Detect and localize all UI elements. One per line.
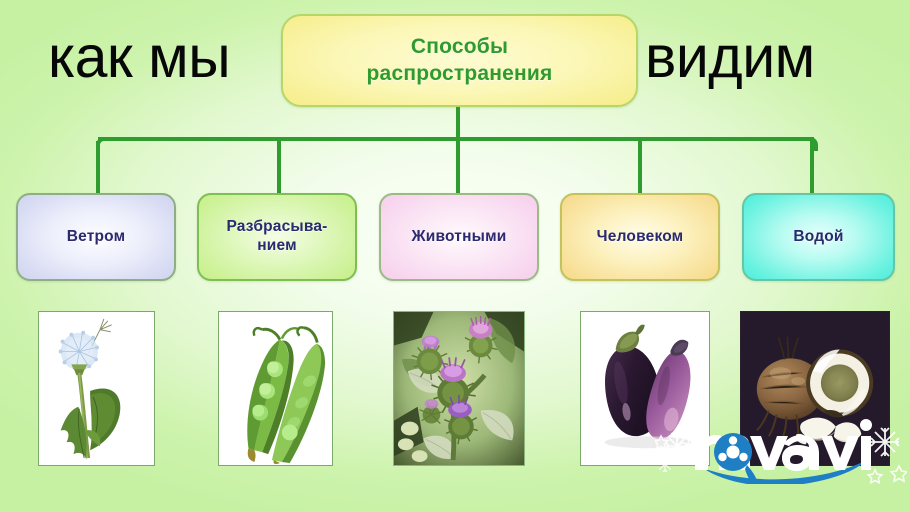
- node-chelovekom-label: Человеком: [591, 228, 690, 247]
- connector-root-stem: [456, 104, 460, 141]
- node-vodoy-label: Водой: [787, 228, 849, 247]
- connector-drop-5: [810, 141, 814, 194]
- node-vodoy[interactable]: Водой: [742, 193, 895, 281]
- illustration-burdock-thistle: [393, 311, 525, 466]
- root-node[interactable]: Способы распространения: [281, 14, 638, 107]
- root-node-label-line2: распространения: [367, 61, 553, 87]
- connector-drop-4: [638, 141, 642, 194]
- root-node-label-line1: Способы: [367, 34, 553, 60]
- overlay-text-right: видим: [645, 28, 815, 87]
- node-chelovekom[interactable]: Человеком: [560, 193, 720, 281]
- node-razbrasyvaniem-label-line1: Разбрасыва-: [226, 218, 327, 237]
- illustration-pea-pods: [218, 311, 333, 466]
- connector-drop-3: [456, 141, 460, 194]
- root-node-label: Способы распространения: [361, 34, 559, 87]
- node-vodoy-label-line1: Водой: [793, 228, 843, 247]
- illustration-dandelion-seed-head: [38, 311, 155, 466]
- node-zhivotnymi-label-line1: Животными: [412, 228, 507, 247]
- slide-canvas: Способы распространения Ветром Разбрасыв…: [0, 0, 910, 512]
- node-chelovekom-label-line1: Человеком: [597, 228, 684, 247]
- connector-drop-1: [96, 141, 100, 194]
- node-vetrom-label-line1: Ветром: [67, 228, 126, 247]
- illustration-coconut-halves: [740, 311, 890, 466]
- node-zhivotnymi-label: Животными: [406, 228, 513, 247]
- node-vetrom[interactable]: Ветром: [16, 193, 176, 281]
- node-zhivotnymi[interactable]: Животными: [379, 193, 539, 281]
- node-razbrasyvaniem-label: Разбрасыва- нием: [220, 218, 333, 256]
- connector-drop-2: [277, 141, 281, 194]
- node-vetrom-label: Ветром: [61, 228, 132, 247]
- illustration-eggplants: [580, 311, 710, 466]
- node-razbrasyvaniem[interactable]: Разбрасыва- нием: [197, 193, 357, 281]
- node-razbrasyvaniem-label-line2: нием: [226, 237, 327, 256]
- overlay-text-left: как мы: [48, 28, 230, 87]
